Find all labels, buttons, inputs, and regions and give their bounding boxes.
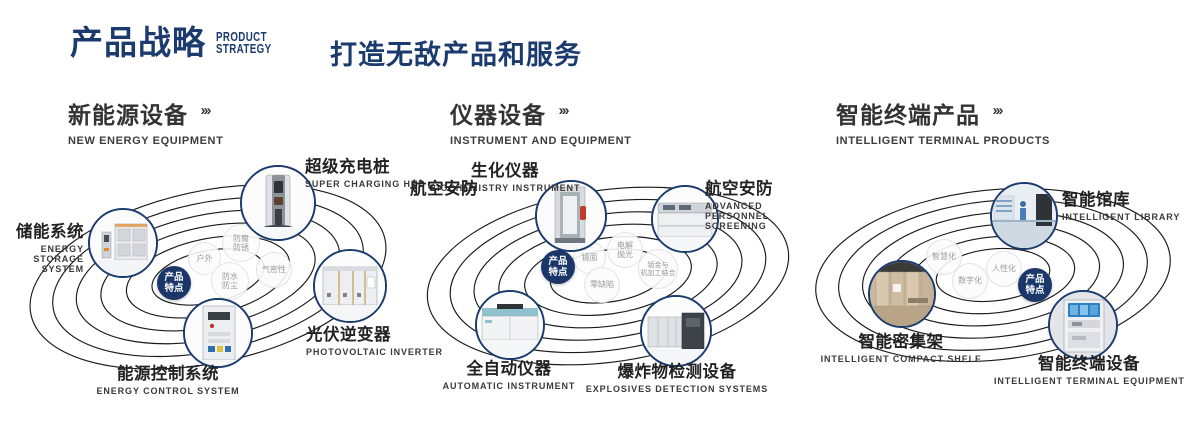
badge-line2: 特点 (164, 283, 183, 294)
inverter-cabinet-art (315, 251, 385, 321)
feature-bubble-3: 钣金与 机加工结合 (638, 249, 678, 289)
cluster-instrument: 镜面 电解 抛光 零缺陷 钣金与 机加工结合 产品 特点 (400, 150, 820, 400)
badge-line1: 产品 (548, 256, 567, 267)
label-energy-control-system: 能源控制系统 ENERGY CONTROL SYSTEM (88, 360, 248, 396)
label-advanced-personnel-screening: 航空安防 ADVANCED PERSONNEL SCREENING (705, 175, 800, 231)
title-en-line2: STRATEGY (216, 43, 271, 55)
feature-bubble-1: 数字化 (952, 263, 988, 299)
section-title-instrument: 仪器设备 ››› INSTRUMENT AND EQUIPMENT (450, 96, 631, 147)
chevrons-icon-1: ››› (558, 102, 567, 119)
title-cn: 产品战略 (70, 26, 206, 59)
label-cn: 储能系统 (0, 218, 84, 242)
feature-text-2: 人性化 (992, 264, 1016, 274)
cabinet-charger-art (90, 210, 156, 276)
chevrons-icon-2: ››› (992, 102, 1001, 119)
badge-line2: 特点 (1025, 285, 1044, 296)
label-energy-storage: 储能系统 ENERGY STORAGE SYSTEM (0, 218, 84, 274)
section-title-intelligent: 智能终端产品 ››› INTELLIGENT TERMINAL PRODUCTS (836, 96, 1050, 147)
label-aviation-security-left: 航空安防 (410, 175, 478, 199)
title-en: PRODUCT STRATEGY (216, 31, 271, 55)
feature-text-3: 钣金与 机加工结合 (641, 261, 676, 278)
auto-analyzer-art (477, 292, 543, 358)
feature-text-2: 防水 防尘 (222, 272, 238, 291)
section-cn-1: 仪器设备 (450, 96, 546, 130)
label-explosives-detection: 爆炸物检测设备 EXPLOSIVES DETECTION SYSTEMS (582, 358, 772, 394)
page-title: 产品战略 PRODUCT STRATEGY (70, 26, 287, 59)
label-automatic-instrument: 全自动仪器 AUTOMATIC INSTRUMENT (424, 355, 594, 391)
label-en: EXPLOSIVES DETECTION SYSTEMS (582, 384, 772, 394)
label-cn: 全自动仪器 (424, 355, 594, 379)
feature-bubble-2: 防水 防尘 (211, 262, 249, 300)
label-en: INTELLIGENT LIBRARY (1062, 212, 1180, 222)
section-title-new-energy: 新能源设备 ››› NEW ENERGY EQUIPMENT (68, 96, 223, 147)
badge-line1: 产品 (1025, 274, 1044, 285)
label-intelligent-terminal-equipment: 智能终端设备 INTELLIGENT TERMINAL EQUIPMENT (994, 350, 1184, 386)
infographic-canvas: 产品战略 PRODUCT STRATEGY 打造无敌产品和服务 新能源设备 ››… (0, 0, 1200, 422)
feature-bubble-1: 电解 抛光 (607, 232, 643, 268)
feature-bubble-2: 零缺陷 (584, 267, 620, 303)
compact-shelf-art (870, 262, 934, 326)
explosive-detector-art (642, 297, 710, 365)
label-en: INTELLIGENT TERMINAL EQUIPMENT (994, 376, 1184, 386)
badge-line1: 产品 (164, 272, 183, 283)
section-cn-2: 智能终端产品 (836, 96, 980, 130)
label-intelligent-library: 智能馆库 INTELLIGENT LIBRARY (1062, 186, 1180, 222)
feature-bubble-3: 气密性 (256, 252, 292, 288)
node-energy-control-system[interactable] (183, 298, 253, 368)
node-photovoltaic-inverter[interactable] (313, 249, 387, 323)
feature-text-1: 电解 抛光 (617, 241, 633, 260)
label-en: AUTOMATIC INSTRUMENT (424, 381, 594, 391)
label-cn: 航空安防 (410, 175, 478, 199)
badge-text: 产品 特点 (1025, 274, 1044, 296)
node-automatic-instrument[interactable] (475, 290, 545, 360)
label-cn: 航空安防 (705, 175, 800, 199)
section-en-0: NEW ENERGY EQUIPMENT (68, 135, 223, 147)
label-intelligent-compact-shelf: 智能密集架 INTELLIGENT COMPACT SHELF (808, 328, 994, 364)
section-cn-0: 新能源设备 (68, 96, 188, 130)
label-cn: 智能密集架 (808, 328, 994, 352)
badge-line2: 特点 (548, 267, 567, 278)
node-intelligent-library[interactable] (990, 182, 1058, 250)
label-en: INTELLIGENT COMPACT SHELF (808, 354, 994, 364)
badge-text: 产品 特点 (548, 256, 567, 278)
feature-text-2: 零缺陷 (590, 280, 614, 290)
feature-text-0: 户外 (197, 254, 213, 264)
label-cn: 能源控制系统 (88, 360, 248, 384)
badge-text: 产品 特点 (164, 272, 183, 294)
feature-text-0: 智慧化 (932, 252, 956, 262)
library-room-art (992, 184, 1056, 248)
cluster-new-energy: 户外 防腐 防锈 防水 防尘 气密性 产品 特点 (0, 150, 420, 400)
section-en-2: INTELLIGENT TERMINAL PRODUCTS (836, 135, 1050, 147)
feature-text-3: 气密性 (262, 265, 286, 275)
feature-text-0: 镜面 (582, 253, 598, 263)
label-cn: 智能终端设备 (994, 350, 1184, 374)
page-subtitle: 打造无敌产品和服务 (330, 33, 582, 72)
label-en: ENERGY CONTROL SYSTEM (88, 386, 248, 396)
feature-text-1: 数字化 (958, 276, 982, 286)
product-features-badge: 产品 特点 (541, 250, 575, 284)
charging-pile-art (242, 167, 314, 239)
feature-bubble-2: 人性化 (986, 251, 1022, 287)
product-features-badge: 产品 特点 (1018, 268, 1052, 302)
node-energy-storage[interactable] (88, 208, 158, 278)
label-en: ADVANCED PERSONNEL SCREENING (705, 201, 800, 231)
label-en: ENERGY STORAGE SYSTEM (0, 244, 84, 274)
section-en-1: INSTRUMENT AND EQUIPMENT (450, 135, 631, 147)
chevrons-icon-0: ››› (200, 102, 209, 119)
node-explosives-detection[interactable] (640, 295, 712, 367)
label-cn: 智能馆库 (1062, 186, 1180, 210)
kiosk-terminal-art (1050, 292, 1116, 358)
cluster-intelligent-terminal: 智慧化 数字化 人性化 产品 特点 (790, 150, 1200, 400)
control-cabinet-art (185, 300, 251, 366)
label-cn: 爆炸物检测设备 (582, 358, 772, 382)
node-intelligent-compact-shelf[interactable] (868, 260, 936, 328)
product-features-badge: 产品 特点 (157, 266, 191, 300)
